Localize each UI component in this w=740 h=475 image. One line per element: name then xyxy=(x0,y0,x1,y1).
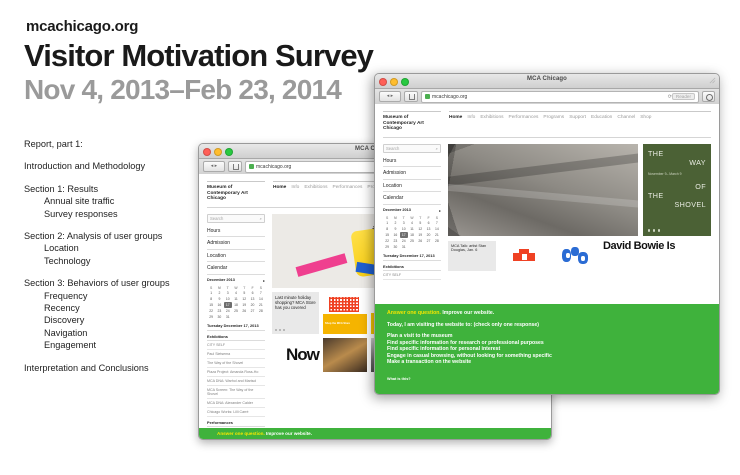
calendar-grid[interactable]: SMTWTFS123456789101112131415161718192021… xyxy=(207,285,265,320)
toc-entry[interactable]: Section 2: Analysis of user groups xyxy=(24,230,214,242)
performances-heading: Performances xyxy=(207,417,265,427)
calendar-header: December 2013 ▸ xyxy=(207,275,265,285)
toc-entry[interactable]: Introduction and Methodology xyxy=(24,160,214,172)
sidebar-link-calendar[interactable]: Calendar xyxy=(207,262,265,275)
nav-items-front: HomeInfoExhibitionsPerformancesProgramsS… xyxy=(449,115,711,120)
hero-carousel-dots[interactable] xyxy=(648,229,660,231)
hero-row: THE WAY November 9– March 9 OF THE SHOVE… xyxy=(448,144,711,236)
site-icon-front xyxy=(425,94,430,99)
carousel-dots[interactable] xyxy=(275,329,285,331)
sidebar-link-hours[interactable]: Hours xyxy=(383,155,441,168)
exhibition-item[interactable]: CITY SELF xyxy=(383,271,441,280)
sidebar-links: HoursAdmissionLocationCalendar xyxy=(207,225,265,275)
toc-intro-label: Report, part 1: xyxy=(24,138,214,150)
survey-headline-highlight: Answer one question. xyxy=(387,310,441,316)
site-nav-front: HomeInfoExhibitionsPerformancesProgramsS… xyxy=(449,111,711,132)
nav-item-education[interactable]: Education xyxy=(591,115,612,120)
shovel-line-5: SHOVEL xyxy=(648,200,706,209)
hero-photo[interactable] xyxy=(448,144,638,236)
gear-icon[interactable] xyxy=(702,91,715,102)
nav-item-programs[interactable]: Programs xyxy=(543,115,564,120)
red-shape-icon xyxy=(513,249,535,263)
pink-tag xyxy=(296,253,348,277)
exhibitions-list-front: CITY SELF xyxy=(383,271,441,280)
nav-item-info[interactable]: Info xyxy=(467,115,475,120)
now-headline: Now xyxy=(272,345,319,365)
reader-button[interactable]: Reader xyxy=(672,93,695,100)
toc-entry[interactable]: Section 1: Results xyxy=(24,183,214,195)
survey-bar-rest-back: Improve our website. xyxy=(266,431,312,436)
exhibitions-heading: Exhibitions xyxy=(207,331,265,341)
exhibition-item[interactable]: MCA DNA: Warhol and Marisol xyxy=(207,377,265,386)
sidebar-link-location[interactable]: Location xyxy=(207,250,265,263)
exhibitions-heading-front: Exhibitions xyxy=(383,261,441,271)
exhibition-item[interactable]: Paul Sietsema xyxy=(207,350,265,359)
nav-item-home[interactable]: Home xyxy=(449,115,462,120)
browser-window-front[interactable]: MCA Chicago ◂ ▸ mcachicago.org ⟳ Reader … xyxy=(374,73,720,395)
exhibitions-list: CITY SELFPaul SietsemaThe Way of the Sho… xyxy=(207,341,265,417)
survey-bar-back[interactable]: Answer one question. Improve our website… xyxy=(199,428,551,439)
site-brand[interactable]: Museum of Contemporary Art Chicago xyxy=(207,181,265,202)
shop-promo-caption: Shop the MCA Store xyxy=(325,322,350,325)
page-title: Visitor Motivation Survey xyxy=(24,38,373,74)
shovel-dates: November 9– March 9 xyxy=(648,172,706,176)
talk-promo[interactable]: MCA Talk: artist Stan Douglas, Jan. 6 xyxy=(448,241,496,271)
search-placeholder-front: Search xyxy=(386,146,399,151)
search-icon-front[interactable]: ⌕ xyxy=(436,146,438,151)
survey-overlay[interactable]: Answer one question. Improve our website… xyxy=(375,304,719,394)
exhibition-item[interactable]: Chicago Works: Lilli Carré xyxy=(207,408,265,417)
exhibition-item[interactable]: CITY SELF xyxy=(207,341,265,350)
toc-entries: Introduction and MethodologySection 1: R… xyxy=(24,160,214,384)
nav-item-exhibitions[interactable]: Exhibitions xyxy=(304,185,327,190)
sidebar-link-admission[interactable]: Admission xyxy=(383,167,441,180)
nav-item-channel[interactable]: Channel xyxy=(617,115,635,120)
toc-entry[interactable]: Annual site traffic xyxy=(24,195,214,207)
toc-entry[interactable]: Interpretation and Conclusions xyxy=(24,362,214,374)
nav-item-support[interactable]: Support xyxy=(569,115,586,120)
search-input[interactable]: Search ⌕ xyxy=(207,214,265,223)
toc-entry[interactable]: Section 3: Behaviors of user groups xyxy=(24,277,214,289)
blue-logo-tile[interactable] xyxy=(552,241,598,271)
calendar-header-front: December 2013 ▸ xyxy=(383,205,441,215)
nav-item-exhibitions[interactable]: Exhibitions xyxy=(480,115,503,120)
red-dot-grid-icon xyxy=(329,297,359,312)
address-bar-front[interactable]: mcachicago.org ⟳ Reader xyxy=(421,91,699,103)
shovel-exhibit-panel[interactable]: THE WAY November 9– March 9 OF THE SHOVE… xyxy=(643,144,711,236)
calendar-grid-front[interactable]: SMTWTFS123456789101112131415161718192021… xyxy=(383,215,441,250)
url-text-front: mcachicago.org xyxy=(432,94,467,100)
promo-row-front: MCA Talk: artist Stan Douglas, Jan. 6 xyxy=(448,241,711,271)
thumbnail-1[interactable] xyxy=(323,338,367,372)
survey-question: Today, I am visiting the website to: (ch… xyxy=(387,322,707,328)
nav-item-shop[interactable]: Shop xyxy=(640,115,651,120)
toc-entry[interactable]: Engagement xyxy=(24,339,214,351)
survey-option[interactable]: Make a transaction on the website xyxy=(387,359,707,366)
bowie-headline[interactable]: David Bowie Is xyxy=(603,241,711,253)
screenshot-root: mcachicago.org Visitor Motivation Survey… xyxy=(0,0,740,475)
exhibition-item[interactable]: The Way of the Shovel xyxy=(207,359,265,368)
date-range: Nov 4, 2013–Feb 23, 2014 xyxy=(24,74,341,106)
shovel-line-3: OF xyxy=(648,182,706,191)
site-masthead-front: Museum of Contemporary Art Chicago HomeI… xyxy=(375,104,719,132)
survey-option[interactable]: Plan a visit to the museum xyxy=(387,333,707,340)
nav-item-performances[interactable]: Performances xyxy=(333,185,363,190)
survey-option[interactable]: Find specific information for personal i… xyxy=(387,346,707,353)
survey-headline: Answer one question. Improve our website… xyxy=(387,310,707,316)
red-logo-tile[interactable] xyxy=(501,241,547,271)
browser-toolbar-front: ◂ ▸ mcachicago.org ⟳ Reader xyxy=(375,89,719,105)
back-forward-buttons-front[interactable]: ◂ ▸ xyxy=(379,91,401,102)
sidebar-link-hours[interactable]: Hours xyxy=(207,225,265,238)
survey-bar-highlight-back: Answer one question. xyxy=(217,431,265,436)
survey-option[interactable]: Engage in casual browsing, without looki… xyxy=(387,353,707,360)
blue-shape-icon xyxy=(562,247,588,265)
nav-item-performances[interactable]: Performances xyxy=(509,115,539,120)
toc-entry[interactable]: Discovery xyxy=(24,314,214,326)
page-columns-front: Search ⌕ HoursAdmissionLocationCalendar … xyxy=(375,138,719,281)
sidebar-link-calendar[interactable]: Calendar xyxy=(383,192,441,205)
selected-day-title: Tuesday December 17, 2013 xyxy=(207,319,265,331)
site-icon xyxy=(249,164,254,169)
store-promo[interactable]: Last minute holiday shopping? MCA Store … xyxy=(272,292,319,334)
url-text: mcachicago.org xyxy=(256,164,291,170)
toc-entry[interactable]: Recency xyxy=(24,302,214,314)
window-title-front: MCA Chicago xyxy=(375,76,719,82)
site-brand-front[interactable]: Museum of Contemporary Art Chicago xyxy=(383,111,441,132)
resize-handle-icon[interactable] xyxy=(709,77,716,84)
sidebar-back: Search ⌕ HoursAdmissionLocationCalendar … xyxy=(207,214,265,436)
sidebar-front: Search ⌕ HoursAdmissionLocationCalendar … xyxy=(383,144,441,281)
toc-entry[interactable]: Technology xyxy=(24,255,214,267)
toc-entry[interactable]: Navigation xyxy=(24,327,214,339)
survey-options[interactable]: Plan a visit to the museumFind specific … xyxy=(387,333,707,366)
toc-entry[interactable]: Survey responses xyxy=(24,208,214,220)
store-promo-text: Last minute holiday shopping? MCA Store … xyxy=(275,295,316,310)
exhibition-item[interactable]: Plaza Project: Amanda Ross-Ho xyxy=(207,368,265,377)
toc-entry[interactable]: Frequency xyxy=(24,290,214,302)
toc-entry[interactable]: Location xyxy=(24,242,214,254)
survey-what-is-this-link[interactable]: What is this? xyxy=(387,377,707,381)
search-icon[interactable]: ⌕ xyxy=(260,216,262,221)
site-label: mcachicago.org xyxy=(26,18,138,35)
title-bar-front: MCA Chicago xyxy=(375,74,719,89)
share-icon-front[interactable] xyxy=(404,91,418,102)
back-forward-buttons[interactable]: ◂ ▸ xyxy=(203,161,225,172)
calendar-next-icon-front[interactable]: ▸ xyxy=(439,208,441,213)
survey-option[interactable]: Find specific information for research o… xyxy=(387,340,707,347)
page-viewport-front: Museum of Contemporary Art Chicago HomeI… xyxy=(375,104,719,394)
nav-item-home[interactable]: Home xyxy=(273,185,286,190)
calendar-month-front: December 2013 xyxy=(383,208,411,212)
sidebar-links-front: HoursAdmissionLocationCalendar xyxy=(383,155,441,205)
sidebar-link-location[interactable]: Location xyxy=(383,180,441,193)
main-content-front: THE WAY November 9– March 9 OF THE SHOVE… xyxy=(448,144,711,281)
survey-headline-rest: Improve our website. xyxy=(442,310,494,316)
shovel-line-4: THE xyxy=(648,191,706,200)
search-input-front[interactable]: Search ⌕ xyxy=(383,144,441,153)
table-of-contents: Report, part 1: Introduction and Methodo… xyxy=(24,138,214,384)
nav-item-info[interactable]: Info xyxy=(291,185,299,190)
shovel-line-1: THE xyxy=(648,149,706,158)
search-placeholder: Search xyxy=(210,216,223,221)
exhibition-item[interactable]: MCA DNA: Alexander Calder xyxy=(207,399,265,408)
sidebar-link-admission[interactable]: Admission xyxy=(207,237,265,250)
calendar-next-icon[interactable]: ▸ xyxy=(263,278,265,283)
selected-day-title-front: Tuesday December 17, 2013 xyxy=(383,249,441,261)
shovel-line-2: WAY xyxy=(648,158,706,167)
share-icon[interactable] xyxy=(228,161,242,172)
calendar-month: December 2013 xyxy=(207,278,235,282)
exhibition-item[interactable]: MCA Screen: The Way of the Shovel xyxy=(207,386,265,399)
shop-promo-tile[interactable]: Shop the MCA Store xyxy=(323,292,367,334)
